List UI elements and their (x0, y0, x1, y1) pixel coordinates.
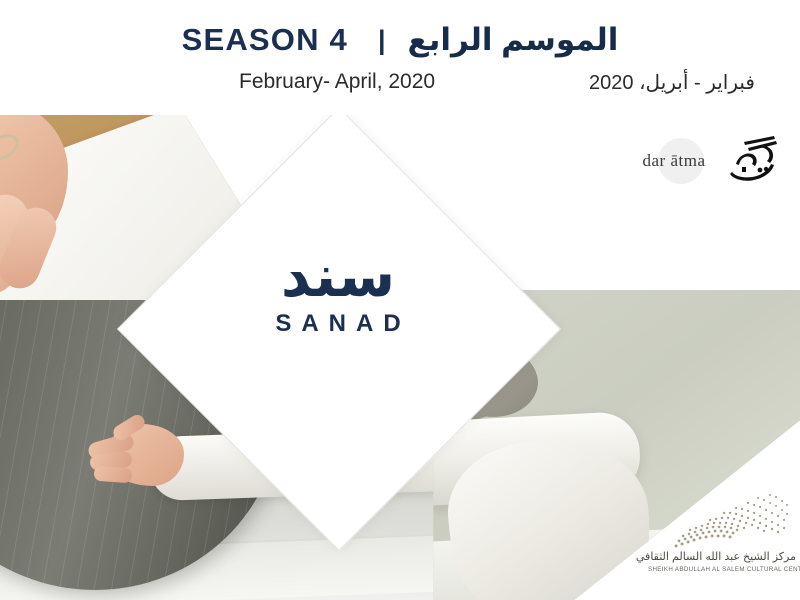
partner-logos: dar ātma (628, 132, 788, 192)
season-title-en: SEASON 4 (182, 22, 348, 58)
dar-atma-label: dar ātma (628, 151, 720, 171)
title-separator: | (378, 25, 386, 56)
feather-ribbon-mark-icon (666, 492, 792, 554)
sanad-logo-latin: SANAD (238, 310, 438, 338)
header-title-row: SEASON 4 | الموسم الرابع (0, 18, 800, 62)
header-date-row: February- April, 2020 فبراير - أبريل، 20… (0, 67, 800, 99)
arabic-calligraphy-logo-icon (724, 134, 780, 186)
season-dates-en: February- April, 2020 (239, 70, 435, 94)
season-dates-ar: فبراير - أبريل، 2020 (589, 70, 755, 95)
season-title-ar: الموسم الرابع (408, 22, 619, 58)
cultural-centre-name-en: SHEIKH ABDULLAH AL SALEM CULTURAL CENTRE (648, 566, 796, 573)
cultural-centre-name-ar: مركز الشيخ عبد الله السالم الثقافي (648, 550, 796, 563)
poster-root: سند SANAD SEASON 4 | الموسم الرابع Febru… (0, 0, 800, 600)
poster-header: SEASON 4 | الموسم الرابع February- April… (0, 0, 800, 115)
sheikh-abdullah-al-salem-cultural-centre-logo: مركز الشيخ عبد الله السالم الثقافي SHEIK… (648, 492, 796, 590)
sanad-logo: سند SANAD (238, 246, 438, 346)
hand-on-ball (88, 420, 188, 498)
painting-hand (0, 102, 118, 322)
hand-finger (94, 466, 133, 484)
sanad-logo-arabic: سند (238, 246, 438, 308)
dar-atma-logo: dar ātma (628, 138, 720, 186)
